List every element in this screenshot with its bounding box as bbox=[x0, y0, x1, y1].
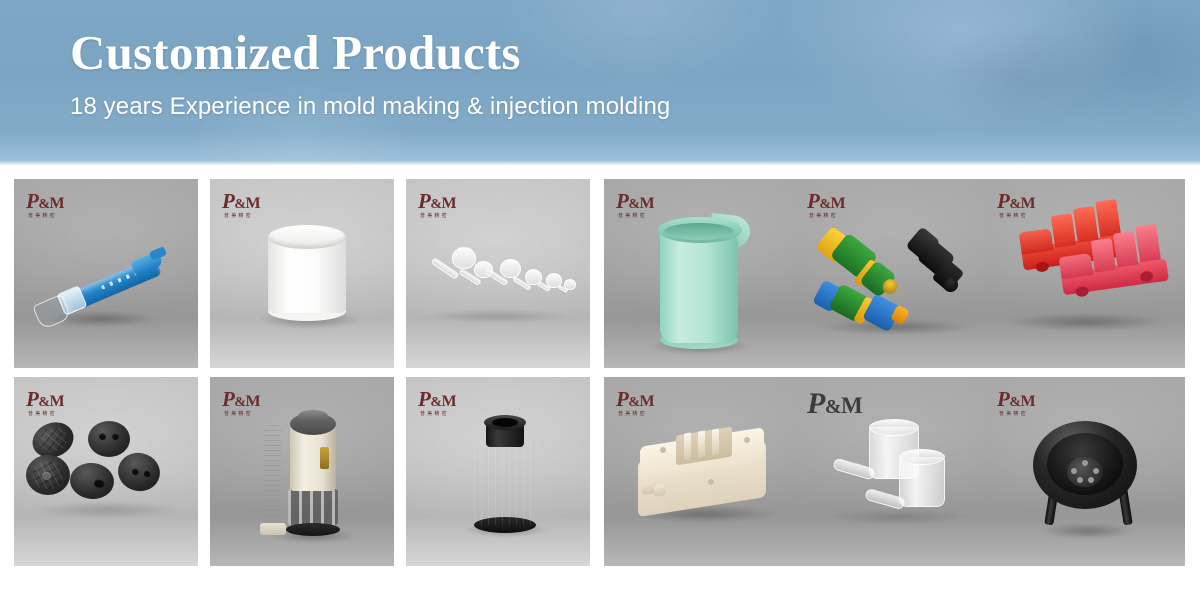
watermark-ampersand: & bbox=[38, 395, 49, 410]
watermark-m: M bbox=[442, 195, 457, 212]
cap-two-hole-upper bbox=[88, 421, 130, 457]
watermark-logo: P&M 普美精密 bbox=[616, 191, 654, 219]
watermark-m: M bbox=[50, 393, 65, 410]
watermark-p: P bbox=[807, 387, 825, 420]
product-gallery: P&M 普美精密 P&M 普美精密 bbox=[0, 165, 1200, 614]
product-card-toilet-flush-valve[interactable]: P&M 普美精密 bbox=[210, 377, 394, 566]
product-card-mint-green-pitcher[interactable]: P&M 普美精密 bbox=[604, 179, 804, 368]
watermark-logo: P&M 普美精密 bbox=[222, 389, 260, 417]
watermark-cn-text: 普美精密 bbox=[618, 412, 654, 417]
page-banner: Customized Products 18 years Experience … bbox=[0, 0, 1200, 165]
watermark-ampersand: & bbox=[825, 396, 841, 418]
product-card-blue-dropper-applicator[interactable]: P&M 普美精密 bbox=[14, 179, 198, 368]
watermark-logo: P&M 普美精密 bbox=[26, 191, 64, 219]
watermark-ampersand: & bbox=[628, 197, 639, 212]
watermark-logo: P&M 普美精密 bbox=[418, 191, 456, 219]
watermark-ampersand: & bbox=[234, 395, 245, 410]
watermark-cn-text: 普美精密 bbox=[28, 412, 64, 417]
watermark-logo: P&M 普美精密 bbox=[807, 191, 845, 219]
watermark-p: P bbox=[997, 387, 1009, 411]
watermark-p: P bbox=[26, 387, 38, 411]
watermark-m: M bbox=[246, 195, 261, 212]
banner-text-block: Customized Products 18 years Experience … bbox=[70, 24, 670, 122]
watermark-ampersand: & bbox=[430, 197, 441, 212]
watermark-cn-text: 普美精密 bbox=[809, 214, 845, 219]
watermark-m: M bbox=[1021, 195, 1036, 212]
product-card-black-plastic-end-caps[interactable]: P&M 普美精密 bbox=[14, 377, 198, 566]
watermark-p: P bbox=[222, 189, 234, 213]
product-card-translucent-measuring-scoops[interactable]: P&M 普美精密 bbox=[795, 377, 995, 566]
watermark-logo: P&M 普美精密 bbox=[807, 389, 862, 419]
watermark-m: M bbox=[640, 195, 655, 212]
watermark-ampersand: & bbox=[819, 197, 830, 212]
product-card-white-cylinder-container[interactable]: P&M 普美精密 bbox=[210, 179, 394, 368]
page-subtitle: 18 years Experience in mold making & inj… bbox=[70, 92, 670, 122]
watermark-ampersand: & bbox=[234, 197, 245, 212]
watermark-cn-text: 普美精密 bbox=[420, 214, 456, 219]
watermark-m: M bbox=[1021, 393, 1036, 410]
watermark-p: P bbox=[997, 189, 1009, 213]
watermark-logo: P&M 普美精密 bbox=[997, 191, 1035, 219]
watermark-p: P bbox=[616, 189, 628, 213]
watermark-cn-text: 普美精密 bbox=[224, 412, 260, 417]
watermark-m: M bbox=[831, 195, 846, 212]
product-card-red-truck-mold-trays[interactable]: P&M 普美精密 bbox=[985, 179, 1185, 368]
watermark-p: P bbox=[807, 189, 819, 213]
product-card-black-fan-burner-housing[interactable]: P&M 普美精密 bbox=[985, 377, 1185, 566]
watermark-cn-text: 普美精密 bbox=[420, 412, 456, 417]
watermark-logo: P&M 普美精密 bbox=[26, 389, 64, 417]
watermark-p: P bbox=[26, 189, 38, 213]
watermark-ampersand: & bbox=[1009, 197, 1020, 212]
watermark-cn-text: 普美精密 bbox=[224, 214, 260, 219]
page-title: Customized Products bbox=[70, 24, 670, 82]
watermark-p: P bbox=[222, 387, 234, 411]
watermark-p: P bbox=[616, 387, 628, 411]
product-card-hose-connector-fittings[interactable]: P&M 普美精密 bbox=[795, 179, 995, 368]
watermark-p: P bbox=[418, 189, 430, 213]
watermark-cn-text: 普美精密 bbox=[28, 214, 64, 219]
watermark-cn-text: 普美精密 bbox=[999, 412, 1035, 417]
watermark-logo: P&M 普美精密 bbox=[418, 389, 456, 417]
watermark-ampersand: & bbox=[1009, 395, 1020, 410]
cap-plain-bottom bbox=[68, 461, 116, 501]
product-card-measuring-spoon-set[interactable]: P&M 普美精密 bbox=[406, 179, 590, 368]
watermark-p: P bbox=[418, 387, 430, 411]
watermark-cn-text: 普美精密 bbox=[618, 214, 654, 219]
watermark-ampersand: & bbox=[628, 395, 639, 410]
product-card-beige-housing-block[interactable]: P&M 普美精密 bbox=[604, 377, 804, 566]
cap-ribbed-left bbox=[26, 455, 70, 495]
watermark-cn-text: 普美精密 bbox=[999, 214, 1035, 219]
watermark-m: M bbox=[442, 393, 457, 410]
watermark-logo: P&M 普美精密 bbox=[997, 389, 1035, 417]
product-card-black-ribbed-connector[interactable]: P&M 普美精密 bbox=[406, 377, 590, 566]
product-row: P&M 普美精密 P&M 普美精密 bbox=[0, 179, 1200, 368]
watermark-ampersand: & bbox=[430, 395, 441, 410]
watermark-logo: P&M 普美精密 bbox=[616, 389, 654, 417]
watermark-m: M bbox=[640, 393, 655, 410]
watermark-logo: P&M 普美精密 bbox=[222, 191, 260, 219]
product-row: P&M 普美精密 P&M 普美精密 bbox=[0, 377, 1200, 566]
watermark-ampersand: & bbox=[38, 197, 49, 212]
watermark-m: M bbox=[841, 393, 862, 418]
watermark-m: M bbox=[246, 393, 261, 410]
watermark-m: M bbox=[50, 195, 65, 212]
cap-two-hole-right bbox=[114, 448, 164, 495]
